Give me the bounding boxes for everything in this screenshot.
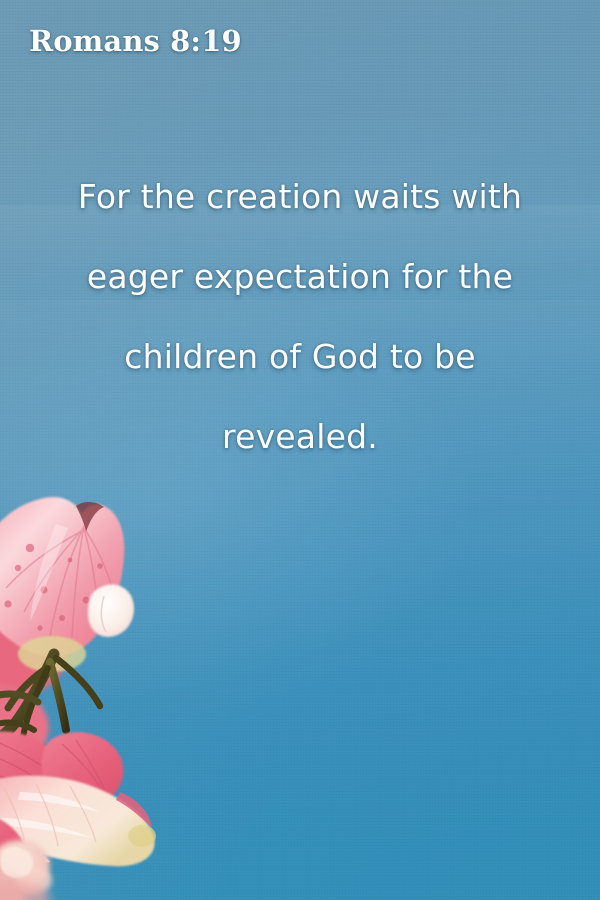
scripture-reference: Romans 8:19: [29, 24, 242, 58]
verse-line-3: children of God to be: [34, 317, 566, 397]
verse-line-2: eager expectation for the: [34, 237, 566, 317]
verse-image-canvas: Romans 8:19 For the creation waits with …: [0, 0, 600, 900]
verse-line-1: For the creation waits with: [34, 157, 566, 237]
verse-line-4: revealed.: [34, 397, 566, 477]
verse-text: For the creation waits with eager expect…: [0, 157, 600, 477]
